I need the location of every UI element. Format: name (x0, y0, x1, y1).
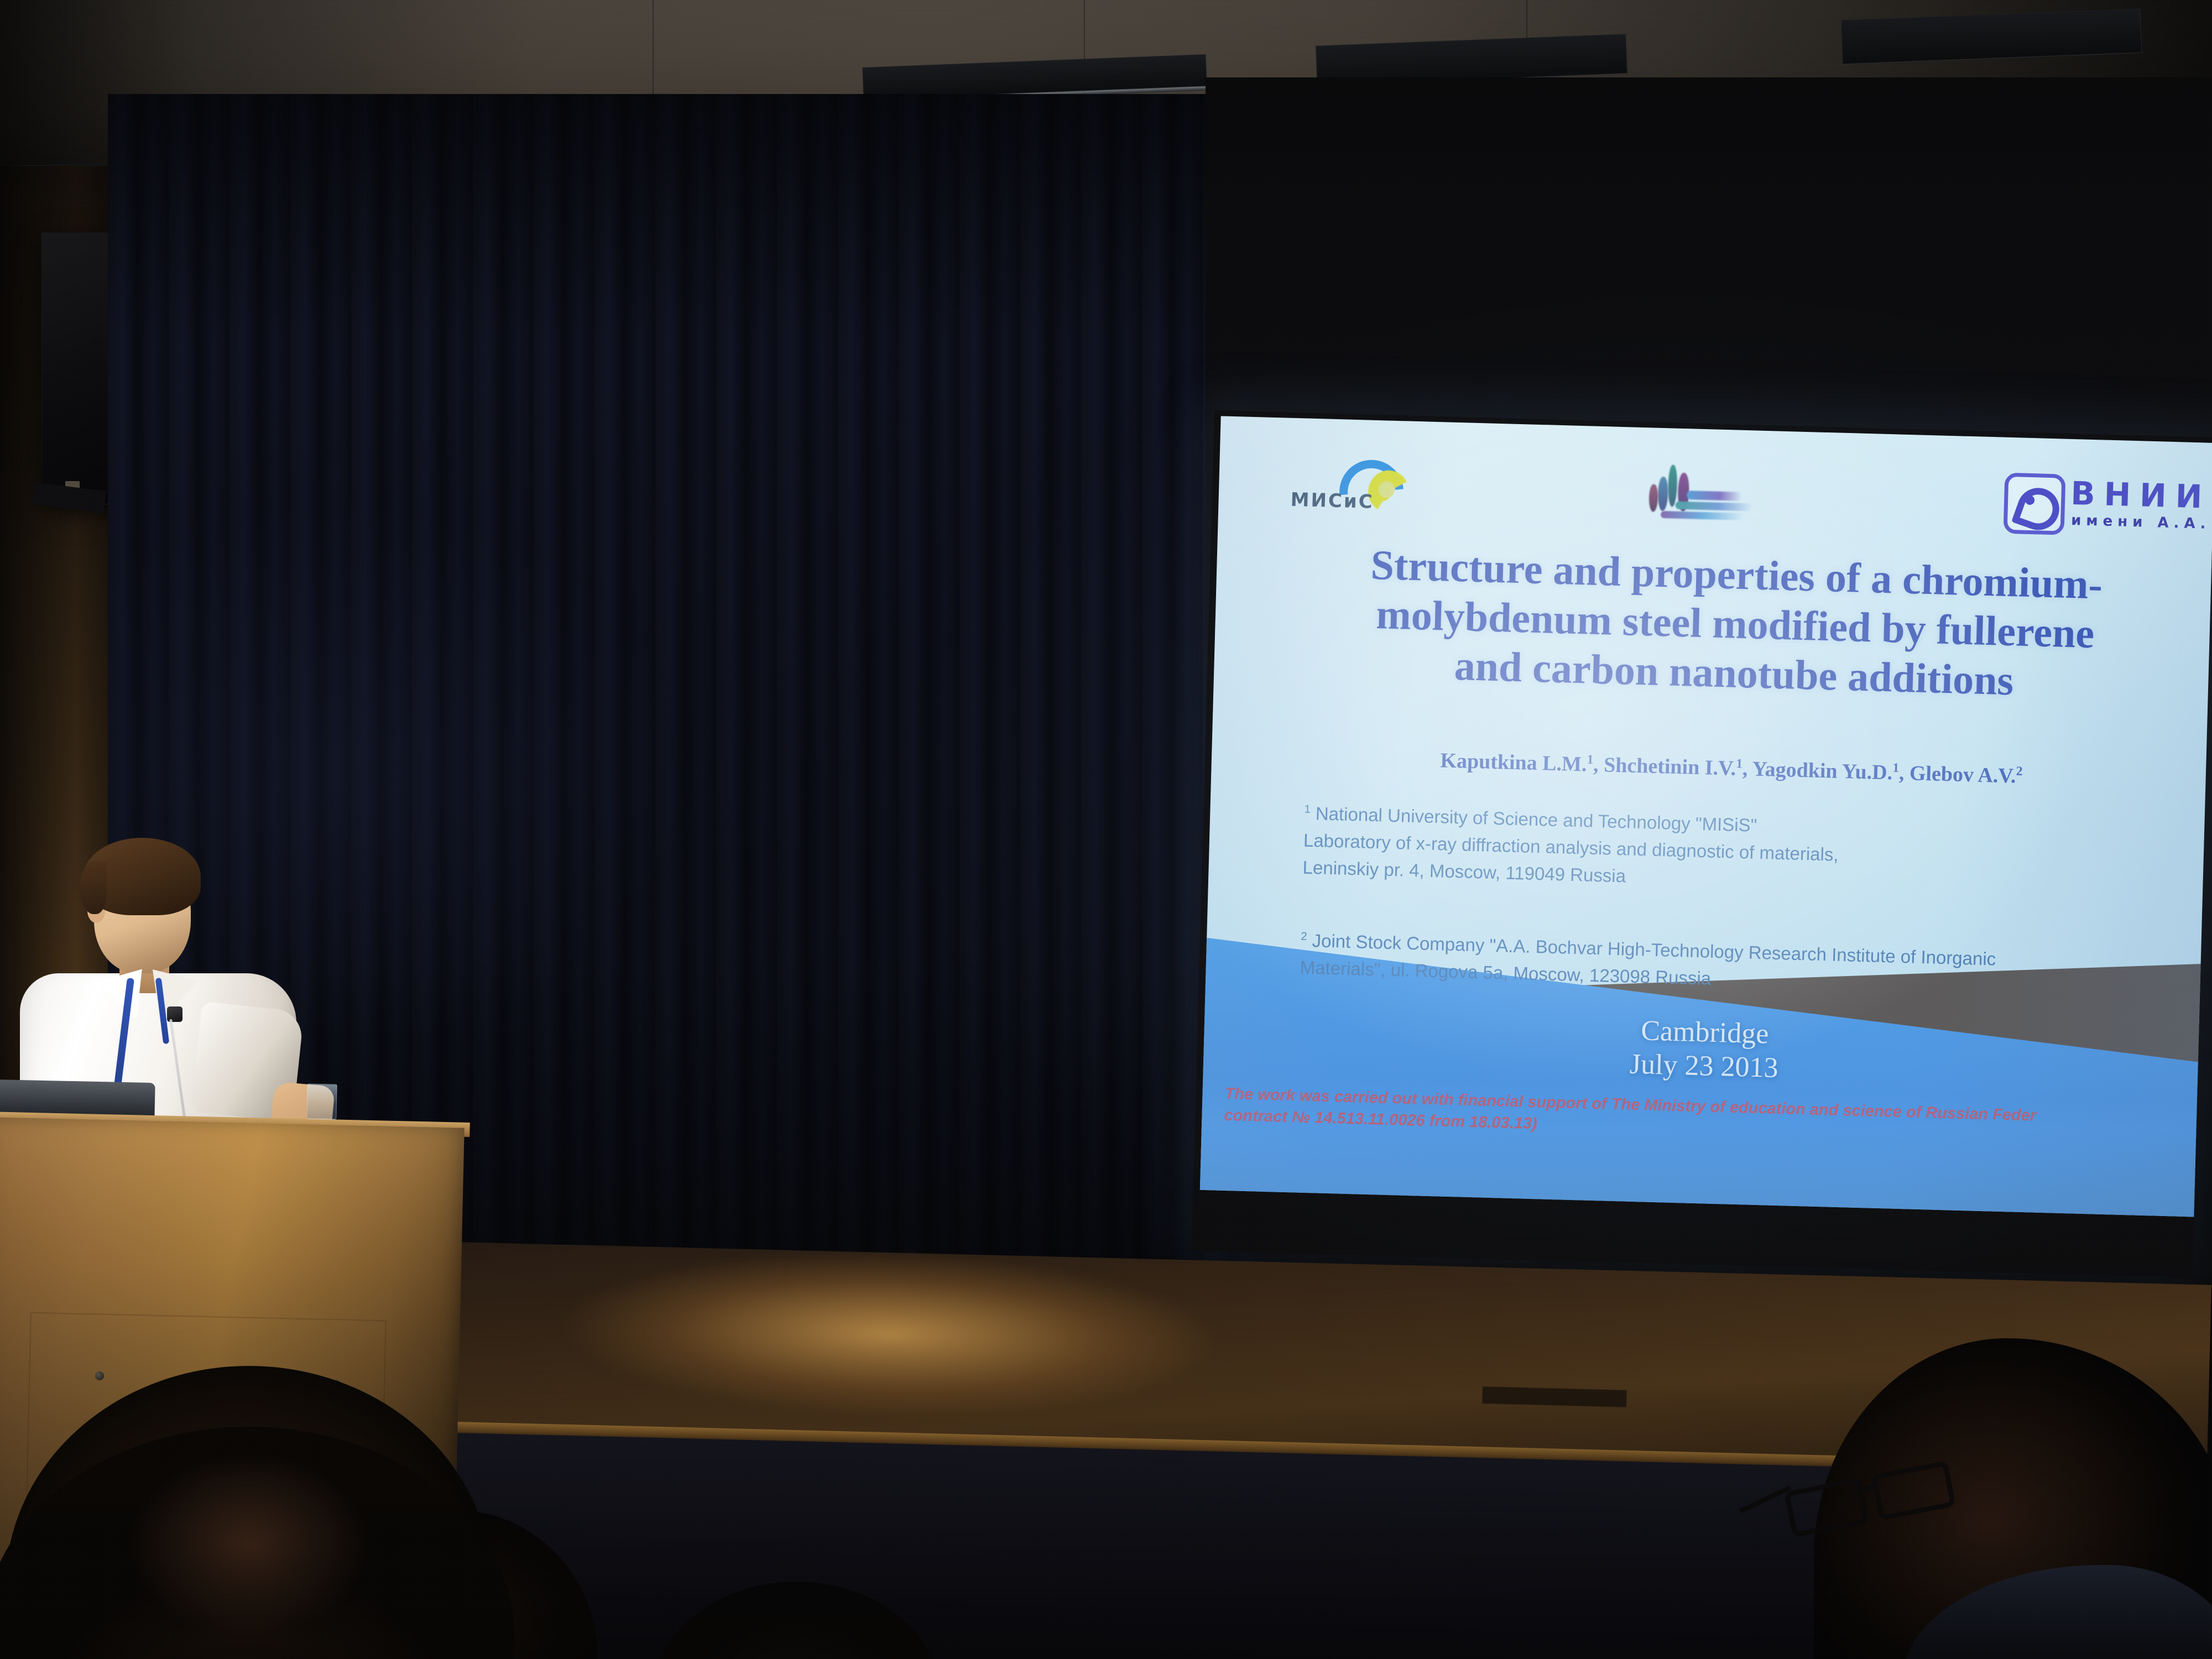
screen-frame: МИСиС ВНИИ имени А.А. (1192, 410, 2212, 1277)
slide-authors: Kaputkina L.M.1, Shchetinin I.V.1, Yagod… (1245, 743, 2212, 794)
lecture-hall-photo: МИСиС ВНИИ имени А.А. (0, 0, 2212, 1659)
podium-screw (95, 1371, 104, 1380)
author-4-marker: 2 (2016, 764, 2022, 779)
conference-logo (1638, 460, 1767, 535)
audience-hair (0, 1427, 514, 1659)
vniim-mark-icon (2003, 473, 2065, 535)
affiliation-1-marker: 1 (1304, 803, 1311, 816)
affiliation-1: 1 National University of Science and Tec… (1302, 800, 2212, 906)
presenter-hair (84, 838, 201, 915)
author-1: Kaputkina L.M. (1440, 749, 1587, 776)
author-2: , Shchetinin I.V. (1593, 753, 1736, 780)
presentation-slide: МИСиС ВНИИ имени А.А. (1200, 416, 2212, 1217)
author-4: , Glebov A.V. (1898, 761, 2016, 788)
slide-title: Structure and properties of a chromium- … (1247, 538, 2212, 711)
misis-logo-label: МИСиС (1290, 489, 1374, 513)
projection-screen: МИСиС ВНИИ имени А.А. (1192, 410, 2212, 1277)
author-3-marker: 1 (1892, 761, 1899, 775)
author-2-marker: 1 (1736, 757, 1743, 771)
vniim-logo: ВНИИ имени А.А. (2003, 469, 2212, 542)
slide-logo-row: МИСиС ВНИИ имени А.А. (1218, 448, 2212, 547)
misis-logo: МИСиС (1290, 456, 1430, 520)
vniim-logo-line2: имени А.А. (2071, 512, 2211, 533)
stage-floor-hatch (1482, 1386, 1627, 1408)
stage-spotlight-pool (540, 1230, 1374, 1434)
vniim-logo-line1: ВНИИ (2070, 474, 2212, 516)
affiliation-2-marker: 2 (1301, 930, 1307, 943)
water-glass (306, 1083, 337, 1119)
author-3: , Yagodkin Yu.D. (1742, 757, 1892, 784)
